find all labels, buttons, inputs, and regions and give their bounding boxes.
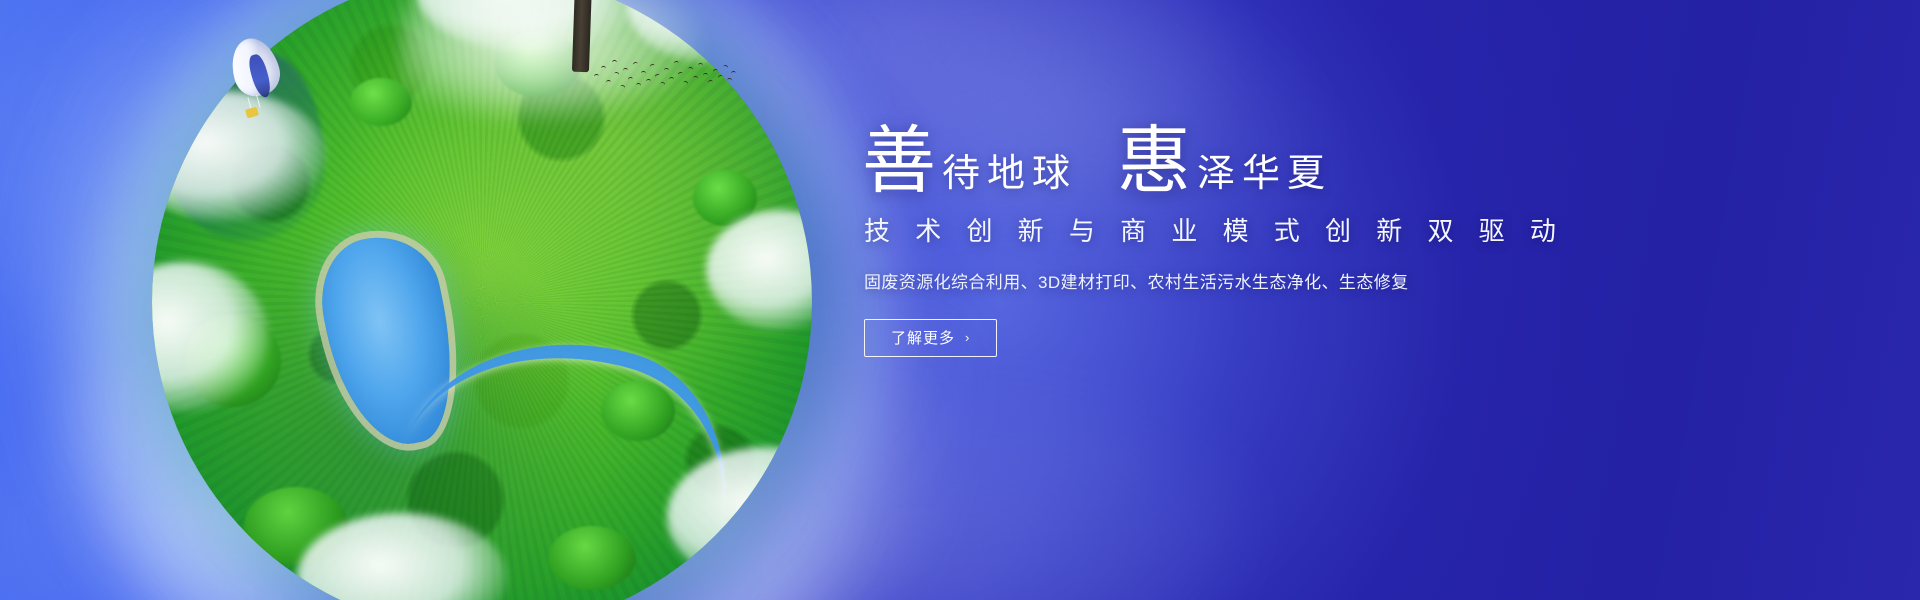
- bird-icon: [649, 63, 655, 69]
- bird-icon: [713, 69, 719, 75]
- tree-clump: [185, 315, 281, 407]
- bird-icon: [659, 81, 665, 87]
- bird-icon: [731, 71, 737, 77]
- bird-icon: [722, 64, 728, 70]
- bird-icon: [674, 61, 679, 66]
- tree-clump: [350, 78, 412, 126]
- banner-content: 善 待地球 惠 泽华夏 技 术 创 新 与 商 业 模 式 创 新 双 驱 动 …: [862, 126, 1462, 357]
- planet-cloud: [667, 447, 812, 587]
- bird-icon: [628, 77, 634, 83]
- cloud-wisp: [0, 289, 612, 600]
- tree-clump: [495, 31, 581, 97]
- page-title: 善 待地球 惠 泽华夏: [862, 126, 1462, 199]
- tree-clump: [601, 381, 675, 441]
- bird-icon: [677, 71, 683, 77]
- bird-icon: [693, 76, 699, 82]
- headline-phrase-one: 善 待地球: [862, 126, 1077, 199]
- headline-rest-two: 泽华夏: [1197, 155, 1332, 199]
- bird-icon: [698, 63, 703, 68]
- cloud-wisp: [12, 67, 668, 600]
- bird-icon: [633, 62, 639, 68]
- bird-icon: [646, 79, 651, 84]
- bird-icon: [612, 60, 617, 65]
- tree-clump: [548, 526, 636, 590]
- planet-cloud: [706, 210, 812, 330]
- headline-rest-one: 待地球: [942, 155, 1077, 199]
- lake-shape: [310, 226, 471, 456]
- planet-cloud: [297, 513, 507, 600]
- bird-icon: [669, 77, 674, 82]
- headline-lead-glyph-two: 惠: [1117, 126, 1191, 199]
- hot-air-balloon-icon: [232, 38, 278, 126]
- bird-icon: [636, 83, 642, 89]
- bird-icon: [601, 66, 606, 71]
- tree-clump: [244, 487, 348, 565]
- bird-flock-icon: [592, 52, 732, 98]
- banner-subtitle: 技 术 创 新 与 商 业 模 式 创 新 双 驱 动: [864, 211, 1462, 248]
- hero-banner: 善 待地球 惠 泽华夏 技 术 创 新 与 商 业 模 式 创 新 双 驱 动 …: [0, 0, 1920, 600]
- bird-icon: [619, 84, 625, 90]
- cloud-wisp: [547, 350, 1274, 600]
- learn-more-label: 了解更多: [891, 327, 955, 348]
- chevron-right-icon: ›: [965, 330, 970, 345]
- learn-more-button[interactable]: 了解更多 ›: [864, 319, 997, 357]
- bird-icon: [623, 68, 628, 73]
- headline-phrase-two: 惠 泽华夏: [1117, 126, 1332, 199]
- tree-clump: [693, 170, 757, 226]
- bird-icon: [606, 80, 611, 85]
- bird-icon: [703, 73, 708, 78]
- bird-icon: [613, 71, 619, 77]
- bird-icon: [688, 67, 694, 73]
- bird-icon: [664, 68, 669, 73]
- banner-description: 固废资源化综合利用、3D建材打印、农村生活污水生态净化、生态修复: [864, 268, 1462, 293]
- planet-cloud: [416, 0, 646, 52]
- headline-lead-glyph-one: 善: [862, 126, 936, 199]
- balloon-basket: [245, 107, 259, 119]
- bird-icon: [654, 73, 660, 79]
- river-shape: [400, 299, 761, 544]
- tree-trunk: [572, 0, 593, 72]
- bird-icon: [682, 80, 688, 86]
- cloud-wisp: [0, 0, 668, 435]
- cloud-swirl: [42, 0, 962, 600]
- cloud-swirl-ring: [96, 0, 896, 600]
- bird-icon: [717, 74, 723, 80]
- bird-icon: [594, 74, 599, 79]
- bird-icon: [708, 80, 714, 86]
- bird-icon: [641, 71, 646, 76]
- bird-icon: [727, 78, 732, 83]
- planet-cloud: [152, 262, 269, 412]
